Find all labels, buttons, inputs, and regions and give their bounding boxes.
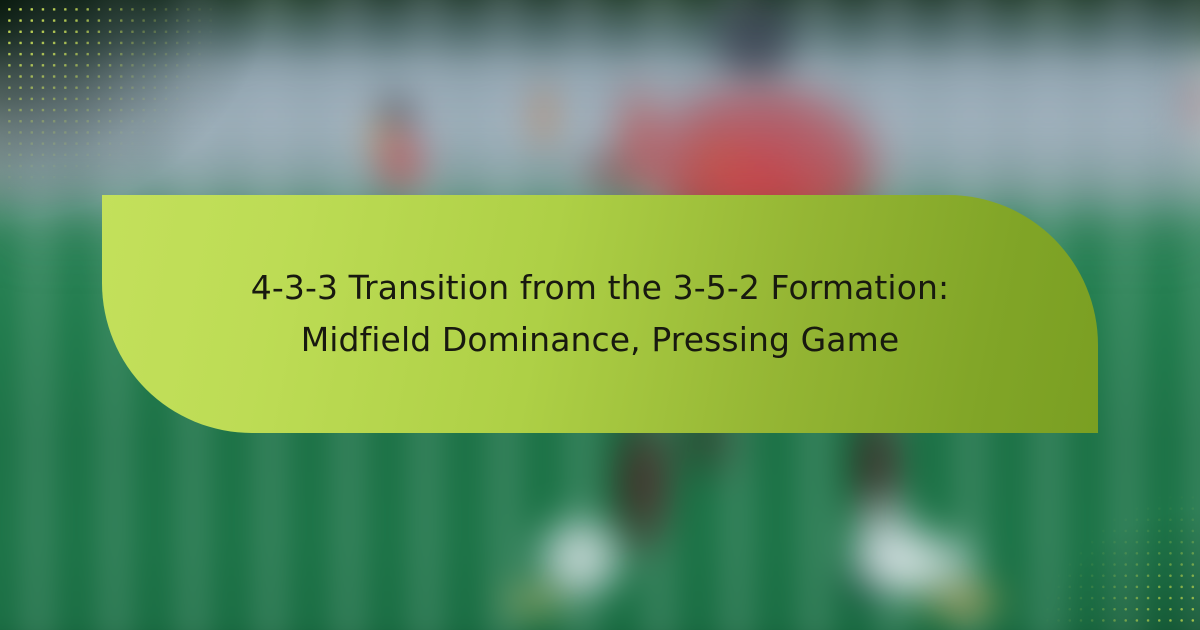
- page-title: 4-3-3 Transition from the 3-5-2 Formatio…: [251, 262, 949, 366]
- page-title-line-1: 4-3-3 Transition from the 3-5-2 Formatio…: [251, 262, 949, 314]
- social-share-card: 4-3-3 Transition from the 3-5-2 Formatio…: [0, 0, 1200, 630]
- page-title-line-2: Midfield Dominance, Pressing Game: [251, 314, 949, 366]
- title-banner: 4-3-3 Transition from the 3-5-2 Formatio…: [102, 195, 1098, 433]
